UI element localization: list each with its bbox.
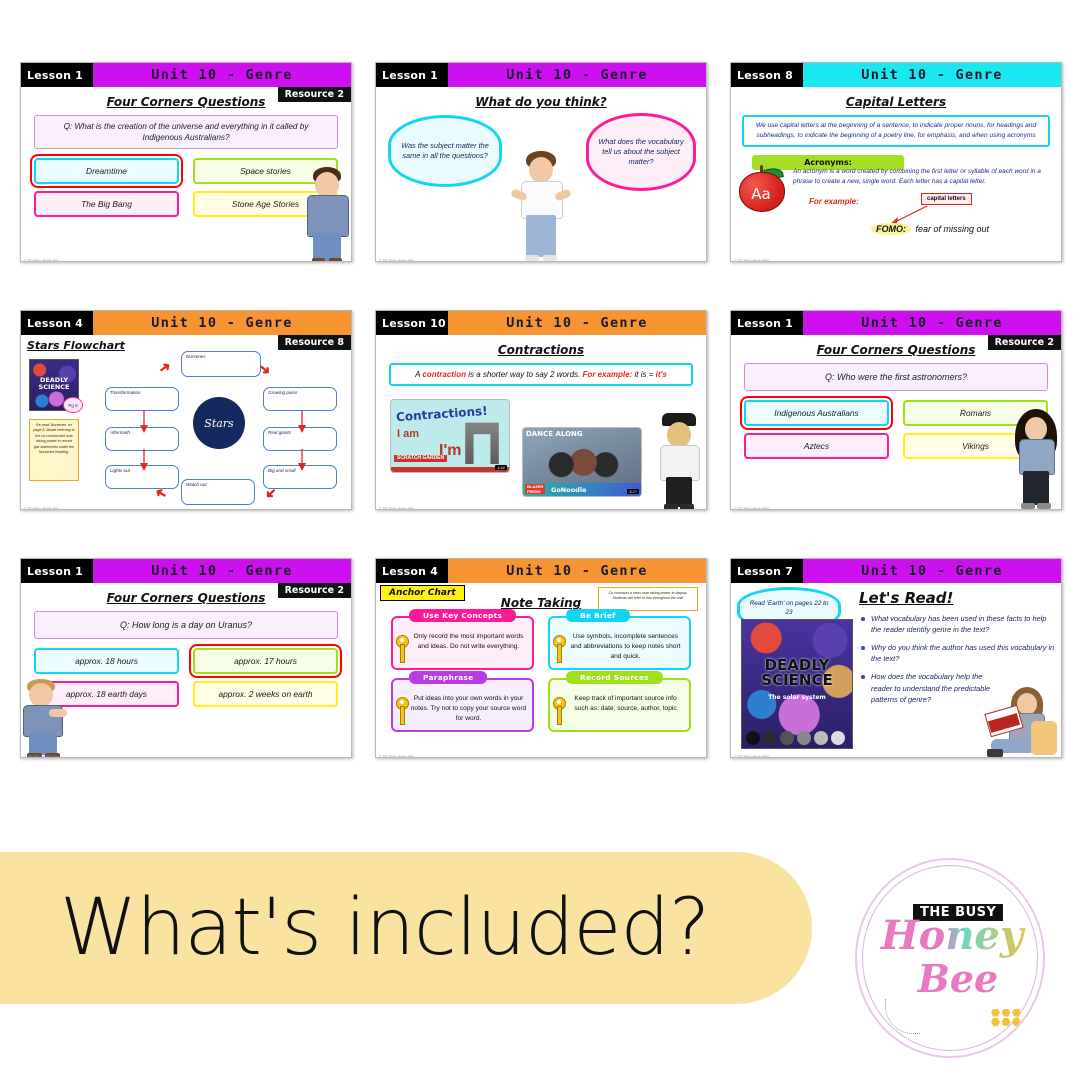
- unit-title: Unit 10 - Genre: [448, 559, 706, 583]
- lesson-badge: Lesson 8: [731, 63, 803, 87]
- flow-box-growing-pains: Growing pains: [263, 387, 337, 411]
- unit-title: Unit 10 - Genre: [803, 63, 1061, 87]
- resource-tab: Resource 8: [278, 335, 351, 350]
- video-brand: SCRATCH GARDEN: [394, 455, 447, 463]
- slide-body: Stars Flowchart DEADLYSCIENCE Pg 8 Re-re…: [21, 335, 351, 510]
- slide-header: Lesson 4 Unit 10 - Genre: [376, 559, 706, 583]
- slide-header: Lesson 7 Unit 10 - Genre: [731, 559, 1061, 583]
- video-thumbnail-contractions[interactable]: Contractions! I am I'm SCRATCH GARDEN 1:…: [390, 399, 510, 473]
- watermark: © The Busy Honey Bee: [379, 258, 414, 262]
- lesson-badge: Lesson 1: [21, 63, 93, 87]
- whats-included-banner: What's included?: [0, 852, 812, 1004]
- flow-box-nurseries: Nurseries: [181, 351, 261, 377]
- key-icon: [396, 697, 407, 723]
- option-wrapper[interactable]: Stone Age Stories: [193, 191, 338, 217]
- option-stone-age[interactable]: Stone Age Stories: [193, 191, 338, 217]
- option-wrapper-correct[interactable]: approx. 17 hours: [193, 648, 338, 674]
- unit-title: Unit 10 - Genre: [93, 559, 351, 583]
- slide-thumbnail-8[interactable]: Lesson 4 Unit 10 - Genre Anchor Chart No…: [375, 558, 707, 758]
- arrow-icon: [139, 411, 149, 433]
- apple-letters: Aa: [739, 185, 783, 203]
- option-wrapper[interactable]: The Big Bang: [34, 191, 179, 217]
- thought-bubble-right: What does the vocabulary tell us about t…: [586, 113, 696, 191]
- slide-thumbnail-9[interactable]: Lesson 7 Unit 10 - Genre Read 'Earth' on…: [730, 558, 1062, 758]
- option-wrapper[interactable]: Space stories: [193, 158, 338, 184]
- watermark: © The Busy Honey Bee: [24, 754, 59, 758]
- four-corners-options: approx. 18 hours approx. 17 hours approx…: [34, 648, 338, 707]
- question-banner: Q: What is the creation of the universe …: [34, 115, 338, 149]
- thought-bubble-left: Was the subject matter the same in all t…: [388, 115, 502, 187]
- slide-header: Lesson 1 Unit 10 - Genre: [21, 63, 351, 87]
- text-b: contraction: [422, 370, 466, 379]
- unit-title: Unit 10 - Genre: [448, 63, 706, 87]
- lesson-badge: Lesson 4: [21, 311, 93, 335]
- slide-thumbnail-3[interactable]: Lesson 8 Unit 10 - Genre Capital Letters…: [730, 62, 1062, 262]
- option-vikings[interactable]: Vikings: [903, 433, 1048, 459]
- video-duration: 1:52: [495, 465, 507, 470]
- four-corners-options: Indigenous Australians Romans Aztecs Vik…: [744, 400, 1048, 459]
- reading-question: How does the vocabulary help the reader …: [859, 671, 1004, 704]
- slide-body: What do you think? Was the subject matte…: [376, 87, 706, 262]
- text-c: is a shorter way to say 2 words.: [466, 370, 583, 379]
- flow-box-transformation: Transformation: [105, 387, 179, 411]
- option-wrapper-correct[interactable]: Dreamtime: [34, 158, 179, 184]
- option-wrapper[interactable]: Romans: [903, 400, 1048, 426]
- unit-title: Unit 10 - Genre: [93, 63, 351, 87]
- slide-header: Lesson 1 Unit 10 - Genre: [376, 63, 706, 87]
- slide-header: Lesson 8 Unit 10 - Genre: [731, 63, 1061, 87]
- logo-line-bee: Bee: [893, 956, 1023, 1001]
- honeycomb-icon: [991, 1009, 1021, 1027]
- unit-title: Unit 10 - Genre: [803, 559, 1061, 583]
- slide-body: Four Corners Questions Q: How long is a …: [21, 583, 351, 758]
- watermark: © The Busy Honey Bee: [379, 506, 414, 510]
- slide-thumbnail-7[interactable]: Lesson 1 Unit 10 - Genre Resource 2 Four…: [20, 558, 352, 758]
- unit-title: Unit 10 - Genre: [803, 311, 1061, 335]
- slide-title: What do you think?: [383, 95, 699, 109]
- note-card-body: Only record the most important words and…: [398, 632, 527, 652]
- book-title: DEADLY SCIENCE: [742, 658, 852, 688]
- teacher-sticky-note: Re-read 'Nurseries' on page 8. Model ref…: [29, 419, 79, 481]
- option-indigenous-australians[interactable]: Indigenous Australians: [744, 400, 889, 426]
- option-18-earth-days[interactable]: approx. 18 earth days: [34, 681, 179, 707]
- option-romans[interactable]: Romans: [903, 400, 1048, 426]
- key-icon: [396, 635, 407, 661]
- note-card-heading: Record Sources: [566, 671, 663, 684]
- question-banner: Q: Who were the first astronomers?: [744, 363, 1048, 391]
- arrow-icon: [297, 411, 307, 433]
- note-card-body: Use symbols, incomplete sentences and ab…: [555, 632, 684, 663]
- slide-header: Lesson 4 Unit 10 - Genre: [21, 311, 351, 335]
- slide-row-3: Lesson 1 Unit 10 - Genre Resource 2 Four…: [20, 558, 1063, 758]
- flow-box-watch-out: Watch out: [181, 479, 255, 505]
- capital-letters-info: We use capital letters at the beginning …: [742, 115, 1050, 147]
- video-duration: 3:27: [627, 489, 639, 494]
- option-wrapper[interactable]: approx. 18 hours: [34, 648, 179, 674]
- bee-trail-icon: [885, 999, 920, 1034]
- arrow-icon: ➜: [155, 357, 174, 378]
- contraction-definition: A contraction is a shorter way to say 2 …: [389, 363, 693, 386]
- resource-tab: Resource 2: [278, 87, 351, 102]
- reading-question: What vocabulary has been used in these f…: [859, 613, 1055, 635]
- reading-questions: What vocabulary has been used in these f…: [859, 613, 1055, 705]
- note-card-paraphrase: Paraphrase Put ideas into your own words…: [391, 678, 534, 732]
- slide-thumbnail-2[interactable]: Lesson 1 Unit 10 - Genre What do you thi…: [375, 62, 707, 262]
- key-icon: [553, 697, 564, 723]
- slide-thumbnail-1[interactable]: Lesson 1 Unit 10 - Genre Resource 2 Four…: [20, 62, 352, 262]
- resource-tab: Resource 2: [278, 583, 351, 598]
- video-title: Contractions!: [396, 404, 488, 424]
- unit-title: Unit 10 - Genre: [93, 311, 351, 335]
- slide-body: Anchor Chart Note Taking Co-construct a …: [376, 583, 706, 758]
- text-d: For example:: [582, 370, 632, 379]
- bitmoji-avatar: [656, 413, 702, 510]
- option-aztecs[interactable]: Aztecs: [744, 433, 889, 459]
- option-2-weeks[interactable]: approx. 2 weeks on earth: [193, 681, 338, 707]
- watermark: © The Busy Honey Bee: [24, 258, 59, 262]
- for-example-label: For example:: [809, 197, 859, 206]
- note-card-body: Put ideas into your own words in your no…: [398, 694, 527, 725]
- note-card-heading: Use Key Concepts: [409, 609, 516, 622]
- logo-line-honey: Honey: [873, 912, 1031, 959]
- slide-thumbnail-4[interactable]: Lesson 4 Unit 10 - Genre Resource 8 Star…: [20, 310, 352, 510]
- lesson-badge: Lesson 1: [731, 311, 803, 335]
- note-card-be-brief: Be Brief Use symbols, incomplete sentenc…: [548, 616, 691, 670]
- video-brand: GoNoodle: [551, 486, 586, 494]
- slide-body: Four Corners Questions Q: What is the cr…: [21, 87, 351, 262]
- stars-center-circle: Stars: [193, 397, 245, 449]
- video-subtitle: I am: [397, 428, 419, 440]
- watermark: © The Busy Honey Bee: [379, 754, 414, 758]
- capital-letters-callout: capital letters: [921, 193, 972, 205]
- fomo-highlight: FOMO:: [871, 223, 911, 235]
- lesson-badge: Lesson 10: [376, 311, 448, 335]
- note-card-record-sources: Record Sources Keep track of important s…: [548, 678, 691, 732]
- slide-thumbnail-5[interactable]: Lesson 10 Unit 10 - Genre Contractions A…: [375, 310, 707, 510]
- banner-title: What's included?: [60, 883, 709, 973]
- note-card-body: Keep track of important source info such…: [555, 694, 684, 714]
- option-dreamtime[interactable]: Dreamtime: [34, 158, 179, 184]
- slide-title: Capital Letters: [738, 95, 1054, 109]
- slide-body: Read 'Earth' on pages 22 to 23 DEADLY SC…: [731, 583, 1061, 758]
- option-wrapper-correct[interactable]: Indigenous Australians: [744, 400, 889, 426]
- option-17-hours[interactable]: approx. 17 hours: [193, 648, 338, 674]
- note-card-heading: Be Brief: [566, 609, 630, 622]
- page-badge: Pg 8: [63, 397, 83, 413]
- arrow-icon: [297, 449, 307, 471]
- question-banner: Q: How long is a day on Uranus?: [34, 611, 338, 639]
- text-e: it is =: [632, 370, 655, 379]
- video-thumbnail-gonoodle[interactable]: DANCE ALONG GoNoodle BLAZERFRESH 3:27: [522, 427, 642, 497]
- lesson-badge: Lesson 4: [376, 559, 448, 583]
- watermark: © The Busy Honey Bee: [734, 754, 769, 758]
- reading-question: Why do you think the author has used thi…: [859, 642, 1055, 664]
- four-corners-options: Dreamtime Space stories The Big Bang Sto…: [34, 158, 338, 217]
- unit-title: Unit 10 - Genre: [448, 311, 706, 335]
- book-subtitle: The solar system: [742, 694, 852, 701]
- apple-icon: Aa: [739, 165, 783, 209]
- slide-header: Lesson 10 Unit 10 - Genre: [376, 311, 706, 335]
- option-wrapper[interactable]: Vikings: [903, 433, 1048, 459]
- note-card-use-key-concepts: Use Key Concepts Only record the most im…: [391, 616, 534, 670]
- note-card-heading: Paraphrase: [409, 671, 487, 684]
- anchor-chart-chip: Anchor Chart: [380, 585, 465, 601]
- text-f: it's: [656, 370, 667, 379]
- watermark: © The Busy Honey Bee: [734, 258, 769, 262]
- arrow-icon: [139, 449, 149, 471]
- lesson-badge: Lesson 7: [731, 559, 803, 583]
- resource-tab: Resource 2: [988, 335, 1061, 350]
- fomo-example: FOMO: fear of missing out: [871, 219, 989, 237]
- acronym-definition: An acronym is a word created by combinin…: [793, 167, 1051, 187]
- slide-row-2: Lesson 4 Unit 10 - Genre Resource 8 Star…: [20, 310, 1063, 510]
- slide-header: Lesson 1 Unit 10 - Genre: [21, 559, 351, 583]
- option-big-bang[interactable]: The Big Bang: [34, 191, 179, 217]
- option-space-stories[interactable]: Space stories: [193, 158, 338, 184]
- book-cover-deadly-science: DEADLY SCIENCE The solar system: [741, 619, 853, 749]
- brand-logo: THE BUSY Honey Bee: [855, 858, 1045, 1058]
- key-icon: [553, 635, 564, 661]
- slide-title: Let's Read!: [859, 589, 1055, 607]
- slide-title: Stars Flowchart: [27, 339, 125, 352]
- slide-thumbnail-grid: Lesson 1 Unit 10 - Genre Resource 2 Four…: [20, 62, 1063, 806]
- option-wrapper[interactable]: Aztecs: [744, 433, 889, 459]
- slide-row-1: Lesson 1 Unit 10 - Genre Resource 2 Four…: [20, 62, 1063, 262]
- watermark: © The Busy Honey Bee: [24, 506, 59, 510]
- slide-header: Lesson 1 Unit 10 - Genre: [731, 311, 1061, 335]
- slide-thumbnail-6[interactable]: Lesson 1 Unit 10 - Genre Resource 2 Four…: [730, 310, 1062, 510]
- lets-read-panel: Let's Read! What vocabulary has been use…: [859, 589, 1055, 712]
- slide-body: Four Corners Questions Q: Who were the f…: [731, 335, 1061, 510]
- video-title: DANCE ALONG: [526, 431, 583, 438]
- teacher-note: Co-construct a class note taking poster …: [598, 587, 698, 611]
- note-taking-cards: Use Key Concepts Only record the most im…: [391, 616, 691, 732]
- option-wrapper[interactable]: approx. 2 weeks on earth: [193, 681, 338, 707]
- lesson-badge: Lesson 1: [21, 559, 93, 583]
- fomo-meaning: fear of missing out: [915, 224, 989, 234]
- option-wrapper[interactable]: approx. 18 earth days: [34, 681, 179, 707]
- lesson-badge: Lesson 1: [376, 63, 448, 87]
- watermark: © The Busy Honey Bee: [734, 506, 769, 510]
- option-18-hours[interactable]: approx. 18 hours: [34, 648, 179, 674]
- slide-title: Contractions: [383, 343, 699, 357]
- slide-body: Capital Letters We use capital letters a…: [731, 87, 1061, 262]
- slide-body: Contractions A contraction is a shorter …: [376, 335, 706, 510]
- bitmoji-avatar: [513, 151, 569, 262]
